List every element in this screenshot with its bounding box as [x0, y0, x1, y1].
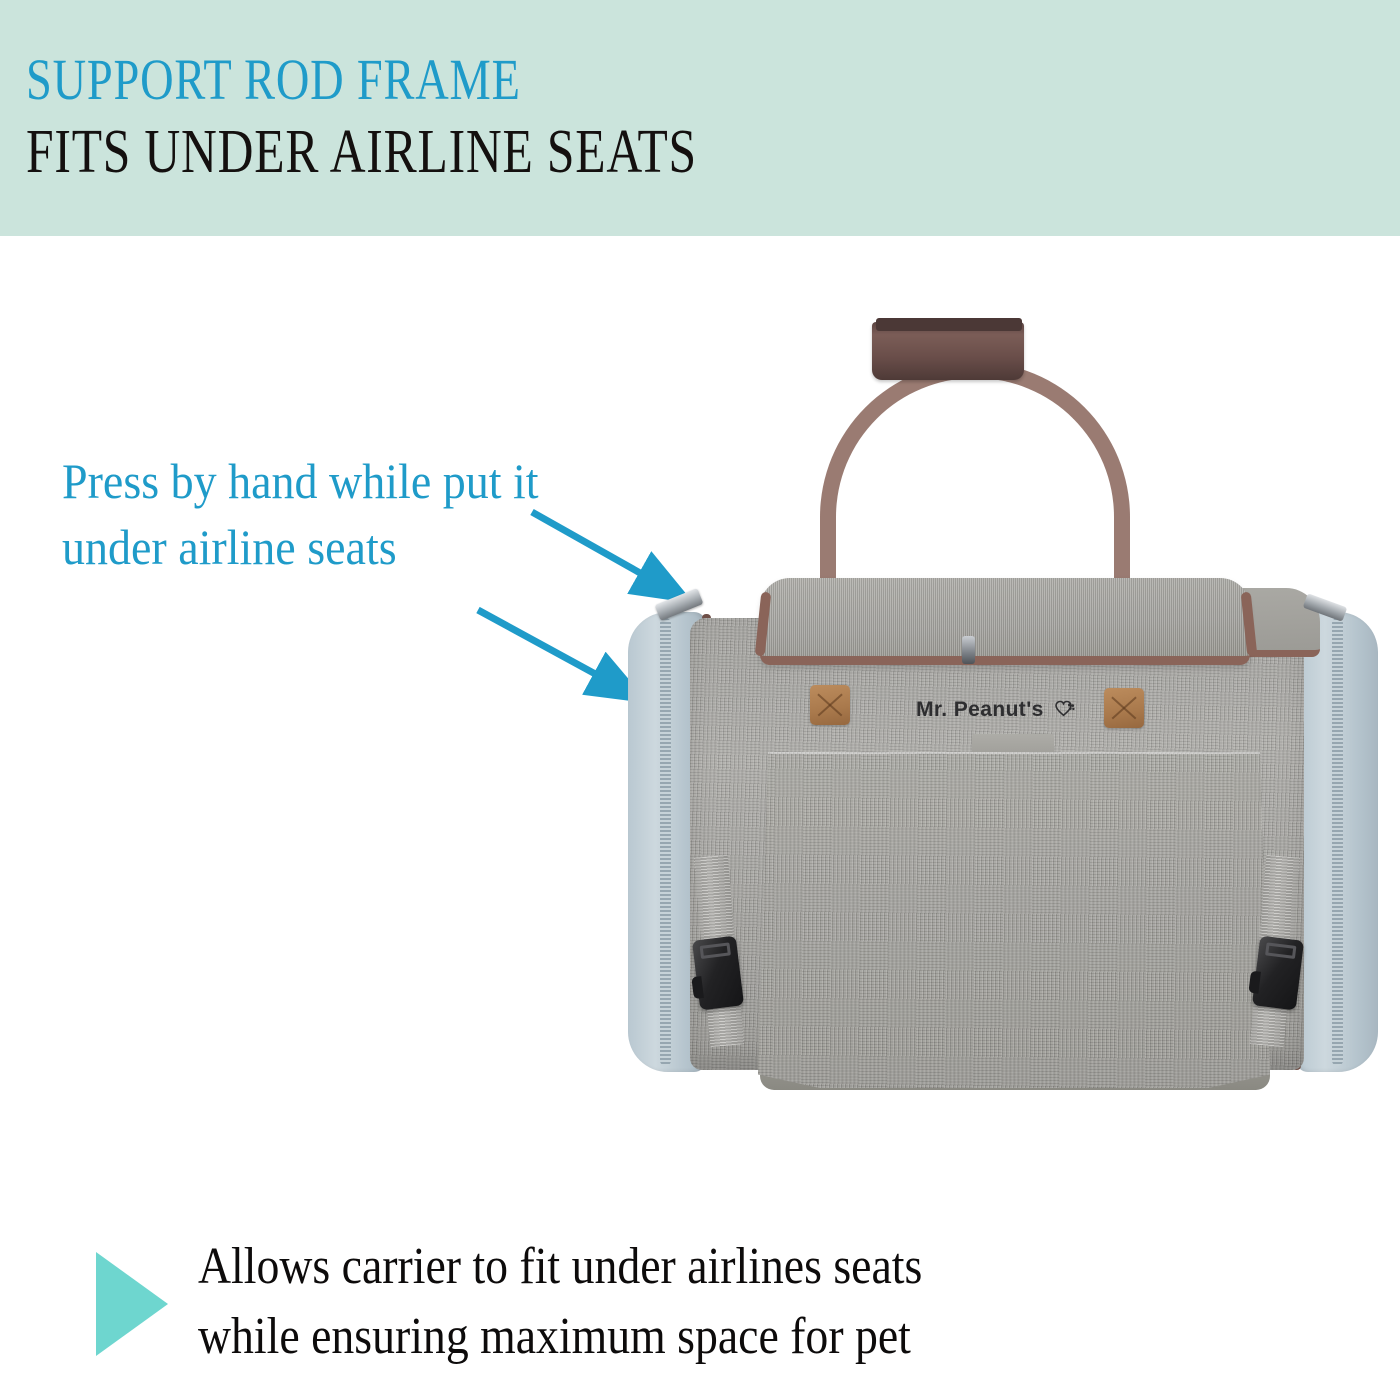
- triangle-bullet-icon: [96, 1252, 168, 1356]
- side-zipper-left: [660, 618, 671, 1066]
- header-title-secondary: FITS UNDER AIRLINE SEATS: [26, 118, 697, 186]
- callout-line-2: under airline seats: [62, 514, 688, 580]
- caption-line-2: while ensuring maximum space for pet: [198, 1302, 1199, 1372]
- caption-line-1: Allows carrier to fit under airlines sea…: [198, 1232, 1199, 1302]
- callout-line-1: Press by hand while put it: [62, 448, 688, 514]
- top-flap: [760, 578, 1250, 665]
- leather-anchor-patch-left: [810, 685, 850, 725]
- handle-grip-top-edge: [876, 318, 1022, 331]
- brand-logo: Mr. Peanut's: [916, 698, 1078, 722]
- side-release-buckle-left: [692, 936, 744, 1011]
- brand-logo-text: Mr. Peanut's: [916, 698, 1044, 722]
- product-image-pet-carrier: Mr. Peanut's: [610, 300, 1390, 1110]
- header-title-primary: SUPPORT ROD FRAME: [26, 48, 521, 112]
- leather-anchor-patch-right: [1104, 688, 1144, 728]
- front-pocket-panel: [758, 752, 1270, 1088]
- callout-annotation: Press by hand while put it under airline…: [62, 448, 688, 580]
- side-zipper-right: [1332, 618, 1343, 1066]
- caption-text: Allows carrier to fit under airlines sea…: [198, 1232, 1199, 1372]
- inner-zipper-pull: [962, 636, 975, 664]
- heart-paw-icon: [1048, 698, 1078, 722]
- infographic-page: SUPPORT ROD FRAME FITS UNDER AIRLINE SEA…: [0, 0, 1400, 1400]
- header-band: SUPPORT ROD FRAME FITS UNDER AIRLINE SEA…: [0, 0, 1400, 236]
- bottom-caption: Allows carrier to fit under airlines sea…: [96, 1232, 1336, 1372]
- side-release-buckle-right: [1252, 936, 1304, 1011]
